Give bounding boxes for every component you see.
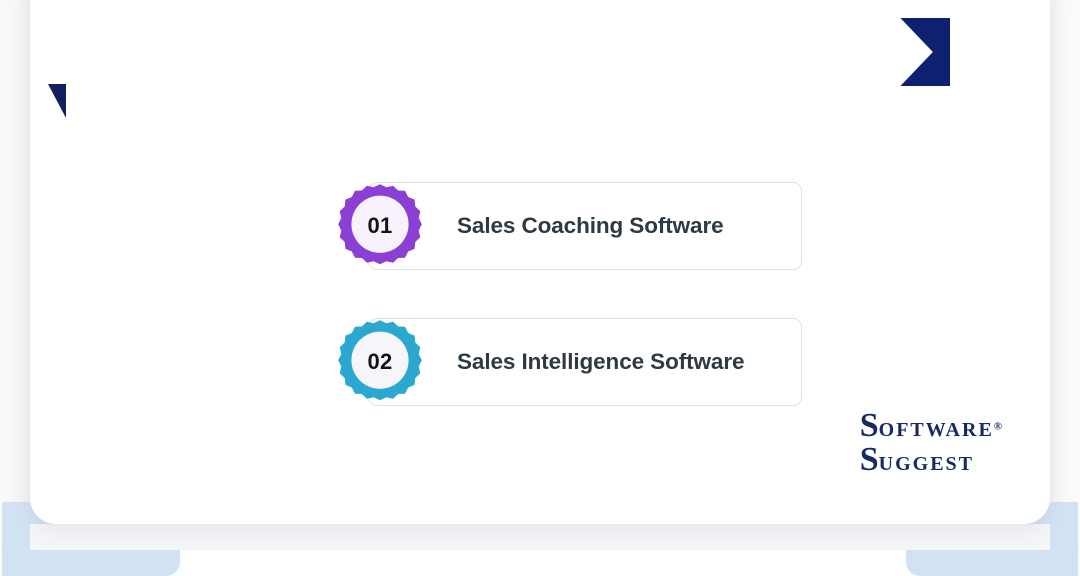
list-item-label: Sales Coaching Software xyxy=(457,209,724,242)
right-gutter-band xyxy=(1050,0,1080,550)
logo-word-suggest: UGGEST xyxy=(879,453,974,475)
badge-number-label: 01 xyxy=(367,213,392,239)
left-gutter-band xyxy=(0,0,30,550)
list-item[interactable]: 02 Sales Intelligence Software xyxy=(368,318,802,406)
banner-fold-tail xyxy=(48,84,66,118)
list-item[interactable]: 01 Sales Coaching Software xyxy=(368,182,802,270)
logo-capital-s-1: S xyxy=(860,407,879,444)
page-title: Related Conversation Intelligence Softwa… xyxy=(48,36,672,69)
card-underlay-band xyxy=(30,524,1050,550)
related-software-list: 01 Sales Coaching Software 02 Sales Inte… xyxy=(368,182,802,406)
page-canvas: Related Conversation Intelligence Softwa… xyxy=(0,0,1080,550)
logo-word-software: OFTWARE xyxy=(879,419,994,441)
logo-line-software: SOFTWARE® xyxy=(860,410,1002,442)
banner-shape: Related Conversation Intelligence Softwa… xyxy=(48,18,950,86)
number-badge-02: 02 xyxy=(336,318,424,406)
softwaresuggest-logo: SOFTWARE® SUGGEST xyxy=(860,410,1002,476)
logo-capital-s-2: S xyxy=(860,441,879,478)
section-banner: Related Conversation Intelligence Softwa… xyxy=(48,18,950,86)
content-card: Related Conversation Intelligence Softwa… xyxy=(30,0,1050,524)
logo-line-suggest: SUGGEST xyxy=(860,444,1002,476)
number-badge-01: 01 xyxy=(336,182,424,270)
registered-trademark-icon: ® xyxy=(994,421,1002,433)
badge-number-label: 02 xyxy=(367,349,392,375)
list-item-label: Sales Intelligence Software xyxy=(457,345,744,378)
